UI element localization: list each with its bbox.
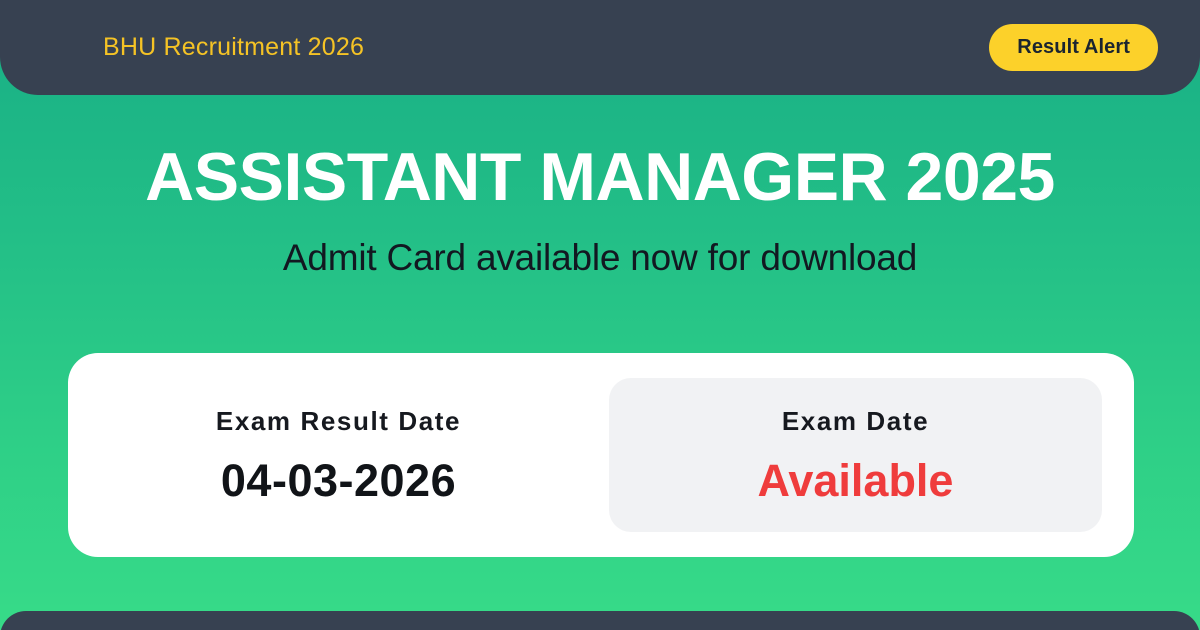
status-badge[interactable]: Result Alert xyxy=(989,24,1158,71)
info-label-exam-date: Exam Date xyxy=(782,408,929,434)
poster-canvas: BHU Recruitment 2026 Result Alert ASSIST… xyxy=(0,0,1200,630)
page-subtitle: Admit Card available now for download xyxy=(0,213,1200,279)
hero-section: ASSISTANT MANAGER 2025 Admit Card availa… xyxy=(0,101,1200,279)
top-bar: BHU Recruitment 2026 Result Alert xyxy=(0,0,1200,95)
page-title: ASSISTANT MANAGER 2025 xyxy=(0,101,1200,213)
info-block-exam-date: Exam Date Available xyxy=(609,378,1102,532)
info-block-exam-result-date: Exam Result Date 04-03-2026 xyxy=(68,353,609,557)
info-value-exam-result-date: 04-03-2026 xyxy=(221,458,456,503)
info-label-exam-result-date: Exam Result Date xyxy=(216,408,461,434)
info-value-exam-date: Available xyxy=(758,458,954,503)
bottom-bar xyxy=(0,611,1200,630)
brand-label: BHU Recruitment 2026 xyxy=(103,35,364,60)
info-card: Exam Result Date 04-03-2026 Exam Date Av… xyxy=(68,353,1134,557)
